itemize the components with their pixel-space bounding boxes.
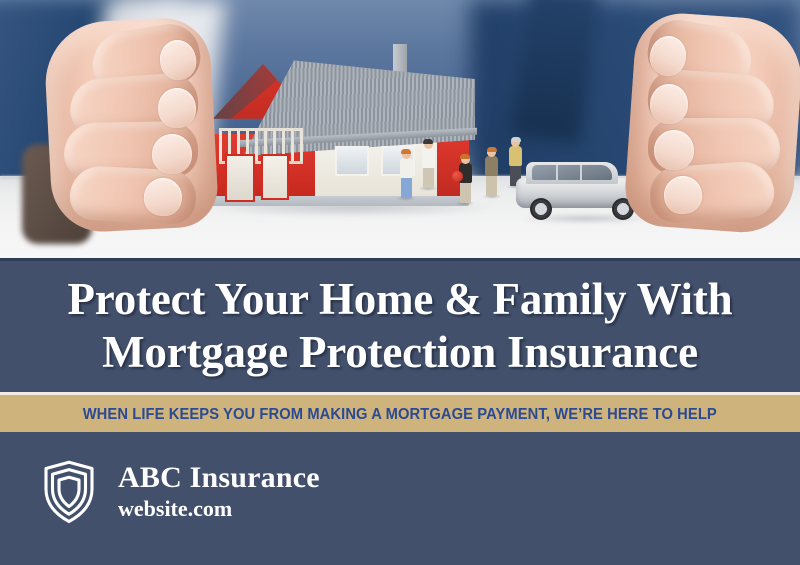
- car-pillar-front: [556, 165, 558, 180]
- figurine-legs: [486, 174, 497, 196]
- car-windows: [532, 165, 612, 180]
- figurine-legs: [401, 176, 412, 198]
- right-hand-nail-3: [653, 129, 694, 170]
- figurine-hair: [423, 139, 433, 144]
- left-hand-nail-3: [151, 133, 192, 174]
- figurine-hair: [401, 149, 411, 154]
- figurine-hair: [511, 137, 521, 142]
- car-pillar-rear: [580, 165, 582, 180]
- headline-line-1: Protect Your Home & Family With: [68, 274, 733, 324]
- footer: ABC Insurance website.com Get a FREE Quo…: [0, 432, 800, 565]
- shield-icon: [38, 456, 100, 526]
- figurine-person-4: [483, 148, 500, 206]
- figurine-ball: [452, 171, 463, 182]
- insurance-ad-flyer: Protect Your Home & Family With Mortgage…: [0, 0, 800, 565]
- figurine-person-1: [398, 150, 414, 204]
- hero-photo: [0, 0, 800, 258]
- figurine-child: [457, 155, 473, 207]
- figurine-legs: [460, 181, 471, 203]
- figurine-torso: [400, 158, 413, 178]
- headline-band: Protect Your Home & Family With Mortgage…: [0, 258, 800, 395]
- left-hand: [40, 18, 230, 233]
- figurine-hair: [487, 147, 497, 152]
- figurine-torso: [485, 156, 498, 176]
- brand-text: ABC Insurance website.com: [118, 461, 320, 522]
- figurine-legs: [423, 166, 434, 188]
- subhead-text: WHEN LIFE KEEPS YOU FROM MAKING A MORTGA…: [83, 406, 717, 424]
- brand-name: ABC Insurance: [118, 461, 320, 495]
- car-wheel-rear: [530, 198, 552, 220]
- brand-website[interactable]: website.com: [118, 495, 320, 522]
- figurine-person-2: [420, 140, 436, 202]
- right-hand: [618, 12, 800, 237]
- headline: Protect Your Home & Family With Mortgage…: [0, 273, 800, 379]
- house-window-left: [261, 154, 289, 200]
- figurine-torso: [422, 148, 435, 168]
- model-house: [185, 42, 485, 222]
- figurine-hair: [460, 154, 470, 159]
- headline-line-2: Mortgage Protection Insurance: [0, 326, 800, 379]
- house-window-center: [335, 146, 369, 176]
- brand-lockup: ABC Insurance website.com: [38, 456, 320, 526]
